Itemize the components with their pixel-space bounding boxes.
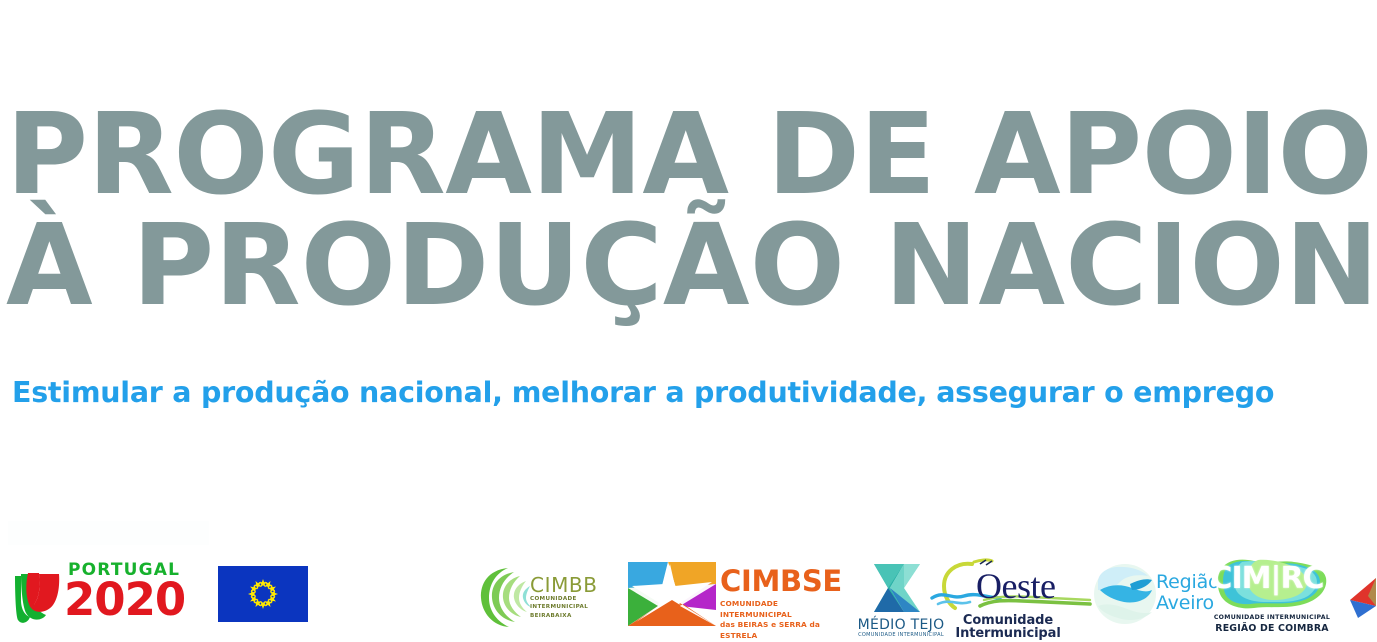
portugal-2020-wordmark: PORTUGAL 2020 — [64, 562, 185, 620]
cimbb-sub-line-1: COMUNIDADE INTERMUNICIPAL — [530, 595, 623, 612]
partner-logo-strip: PORTUGAL 2020 — [0, 548, 1377, 642]
cimbse-wordmark: CIMBSE COMUNIDADE INTERMUNICIPAL das BEI… — [720, 567, 842, 641]
page-title-line-1: PROGRAMA DE APOIO — [6, 104, 1377, 207]
logo-european-union — [218, 566, 308, 622]
logo-cimbb: CIMBB COMUNIDADE INTERMUNICIPAL BEIRABAI… — [478, 562, 623, 634]
page-title-line-2: À PRODUÇÃO NACIONAL — [6, 215, 1377, 318]
cimbse-star-mosaic-icon — [628, 562, 716, 626]
logo-regiao-aveiro: Região Aveiro — [1092, 560, 1212, 632]
subtitle-part-3: assegurar o emprego — [936, 376, 1274, 409]
page-title: PROGRAMA DE APOIO À PRODUÇÃO NACIONAL — [6, 104, 1377, 318]
logo-portugal-2020: PORTUGAL 2020 — [6, 560, 206, 630]
year-2020-label: 2020 — [64, 580, 185, 620]
cimbse-sub-line-2: das BEIRAS e SERRA da ESTRELA — [720, 620, 842, 641]
cimrc-wordmark: CIM|RC — [1208, 564, 1326, 594]
logo-oeste: Oeste Comunidade Intermunicipal — [922, 556, 1094, 638]
subtitle-part-1: Estimular a produção nacional, — [12, 376, 503, 409]
partial-arrow-logo-icon — [1342, 572, 1377, 634]
oeste-name-label: Oeste — [976, 568, 1055, 604]
cimrc-name-part-1: CIM — [1210, 561, 1270, 596]
cimrc-sub-line-1: COMUNIDADE INTERMUNICIPAL — [1208, 614, 1336, 622]
cimbb-sub-line-2: BEIRABAIXA — [530, 612, 623, 620]
cimrc-name-part-2: RC — [1280, 561, 1323, 596]
subtitle-part-2: melhorar a produtividade, — [512, 376, 928, 409]
cimrc-divider: | — [1270, 561, 1280, 596]
oeste-sub-line-1: Comunidade Intermunicipal — [922, 614, 1094, 640]
cimrc-sub-line-2: REGIÃO DE COIMBRA — [1208, 623, 1336, 634]
portugal-flag-leaf-icon — [12, 568, 64, 626]
poster-canvas: PROGRAMA DE APOIO À PRODUÇÃO NACIONAL Es… — [0, 0, 1377, 642]
cimbse-name-label: CIMBSE — [720, 567, 842, 596]
medio-tejo-arrow-icon — [864, 560, 926, 616]
cimbb-name-label: CIMBB — [530, 575, 623, 595]
page-subtitle: Estimular a produção nacional,melhorar a… — [12, 376, 1274, 409]
cimbse-sub-line-1: COMUNIDADE INTERMUNICIPAL — [720, 598, 842, 620]
faint-background-panel — [8, 521, 209, 545]
logo-cimbse: CIMBSE COMUNIDADE INTERMUNICIPAL das BEI… — [628, 558, 840, 636]
cimbb-wordmark: CIMBB COMUNIDADE INTERMUNICIPAL BEIRABAI… — [530, 575, 623, 620]
aveiro-wave-circle-icon — [1092, 562, 1158, 626]
logo-cim-regiao-coimbra: CIM|RC COMUNIDADE INTERMUNICIPAL REGIÃO … — [1208, 558, 1336, 638]
european-union-flag-icon — [218, 566, 308, 622]
cimbb-swirl-icon — [478, 564, 534, 630]
